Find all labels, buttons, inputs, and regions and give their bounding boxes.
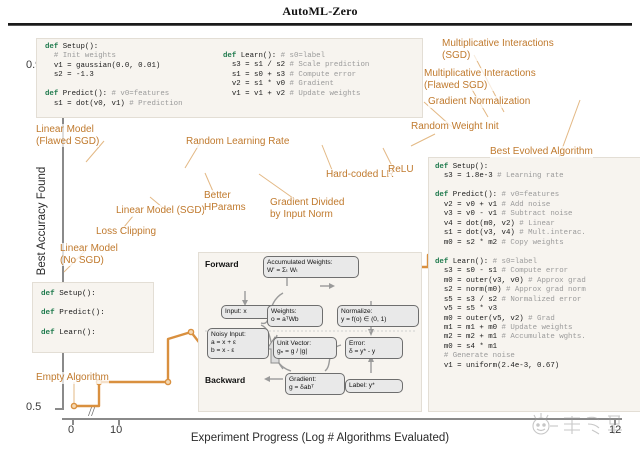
weights-title: Weights: [271, 308, 319, 316]
annotation-relu: ReLU [388, 164, 414, 176]
diagram-box-error: Error: δ = y* - y [345, 337, 403, 359]
weights-equation: o = aᵀWb [271, 316, 319, 324]
noisy-input-title: Noisy Input: [211, 331, 265, 339]
accumulated-weights-equation: W' = Σₜ Wₜ [267, 267, 355, 275]
code-initial-setup-predict: def Setup(): # Init weights v1 = gaussia… [45, 43, 183, 109]
unit-vector-equation: gₙ = g / |g| [277, 348, 333, 356]
annotation-multiplicative-interactions-sgd: Multiplicative Interactions (SGD) [442, 38, 554, 61]
normalize-title: Normalize: [341, 308, 415, 316]
code-initial-learn: def Learn(): # s0=label s3 = s1 / s2 # S… [223, 52, 369, 99]
annotation-random-weight-init: Random Weight Init [411, 121, 499, 133]
annotation-multiplicative-interactions-flawed-sgd: Multiplicative Interactions (Flawed SGD) [424, 68, 536, 91]
annotation-better-hparams: Better HParams [204, 190, 246, 213]
error-equation: δ = y* - y [349, 348, 399, 356]
annotation-gradient-normalization: Gradient Normalization [428, 96, 530, 108]
gradient-title: Gradient: [289, 376, 341, 384]
diagram-box-normalize: Normalize: y = f(o) ∈ (0, 1) [337, 305, 419, 327]
annotation-linear-model-no-sgd: Linear Model (No SGD) [60, 243, 118, 266]
diagram-backward-label: Backward [205, 375, 245, 385]
gradient-equation: g = δabᵀ [289, 384, 341, 392]
unit-vector-title: Unit Vector: [277, 340, 333, 348]
watermark-logo [524, 410, 628, 440]
annotation-best-evolved-algorithm: Best Evolved Algorithm [490, 146, 593, 158]
code-block-best-evolved-algorithm: def Setup(): s3 = 1.8e-3 # Learning rate… [428, 157, 640, 412]
normalize-equation: y = f(o) ∈ (0, 1) [341, 316, 415, 324]
annotation-empty-algorithm: Empty Algorithm [36, 372, 109, 384]
annotation-random-learning-rate: Random Learning Rate [186, 136, 289, 148]
code-block-initial-algorithm: def Setup(): # Init weights v1 = gaussia… [36, 38, 423, 118]
annotation-linear-model-flawed-sgd: Linear Model (Flawed SGD) [36, 124, 99, 147]
diagram-box-accumulated-weights: Accumulated Weights: W' = Σₜ Wₜ [263, 256, 359, 278]
diagram-box-noisy-input: Noisy Input: a = x + ε b = x - ε [207, 328, 269, 359]
forward-backward-diagram: Forward Backward Update W Accumulated We… [198, 252, 422, 412]
error-title: Error: [349, 340, 399, 348]
code-block-empty-algorithm: def Setup(): def Predict(): def Learn(): [32, 282, 154, 353]
diagram-box-label: Label: y* [345, 379, 403, 393]
noisy-input-b: b = x - ε [211, 347, 265, 355]
annotation-loss-clipping: Loss Clipping [96, 226, 156, 238]
diagram-forward-label: Forward [205, 259, 239, 269]
diagram-box-unit-vector: Unit Vector: gₙ = g / |g| [273, 337, 337, 359]
annotation-linear-model-sgd: Linear Model (SGD) [116, 205, 205, 217]
noisy-input-a: a = x + ε [211, 339, 265, 347]
diagram-box-weights: Weights: o = aᵀWb [267, 305, 323, 327]
annotation-gradient-divided-by-input-norm: Gradient Divided by Input Norm [270, 197, 344, 220]
annotation-hard-coded-lr: Hard-coded LR [326, 169, 394, 181]
diagram-box-gradient: Gradient: g = δabᵀ [285, 373, 345, 395]
accumulated-weights-title: Accumulated Weights: [267, 259, 355, 267]
